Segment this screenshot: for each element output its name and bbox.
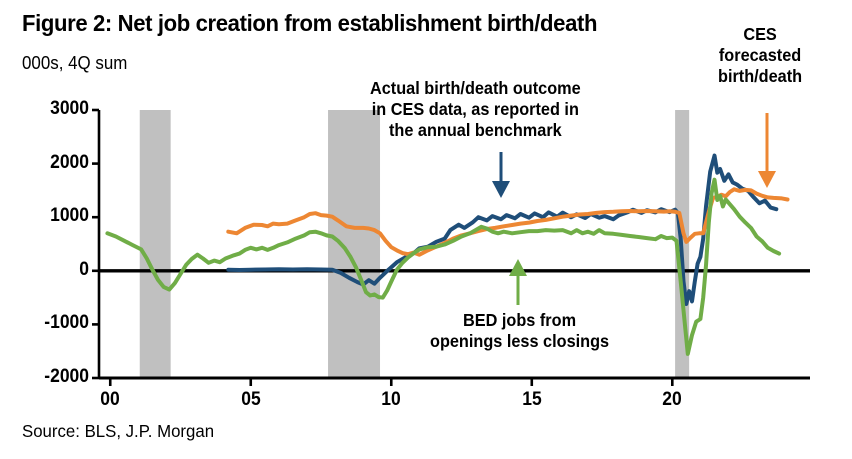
y-axis-label: 0: [17, 259, 89, 281]
annotation-ces-actual-line1: Actual birth/death outcome: [370, 78, 581, 99]
annotation-ces-forecast: CES forecasted birth/death: [718, 24, 802, 87]
figure-container: Figure 2: Net job creation from establis…: [0, 0, 852, 459]
y-axis-label: 2000: [17, 152, 89, 174]
recession-band: [328, 110, 380, 378]
annotation-ces-actual-line2: in CES data, as reported in: [370, 99, 581, 120]
annotation-ces-forecast-line2: forecasted: [718, 45, 802, 66]
annotation-bed-line2: openings less closings: [430, 331, 609, 352]
x-axis-label: 20: [654, 389, 691, 411]
annotation-ces-forecast-line3: birth/death: [718, 66, 802, 87]
annotation-ces-forecast-line1: CES: [718, 24, 802, 45]
x-axis-label: 15: [513, 389, 550, 411]
y-axis-label: -2000: [17, 366, 89, 388]
recession-band: [140, 110, 171, 378]
source-note: Source: BLS, J.P. Morgan: [22, 421, 214, 442]
annotation-bed: BED jobs from openings less closings: [430, 310, 609, 352]
annotation-ces-actual-line3: the annual benchmark: [370, 120, 581, 141]
x-axis-label: 00: [92, 389, 129, 411]
y-axis-label: 3000: [17, 98, 89, 120]
x-axis-label: 10: [373, 389, 410, 411]
y-axis-label: -1000: [17, 312, 89, 334]
arrow-ces-actual-head: [492, 181, 510, 198]
x-axis-label: 05: [232, 389, 269, 411]
y-axis-label: 1000: [17, 205, 89, 227]
arrow-ces-forecast-head: [758, 171, 776, 188]
annotation-bed-line1: BED jobs from: [430, 310, 609, 331]
arrow-bed-head: [509, 259, 527, 276]
annotation-ces-actual: Actual birth/death outcome in CES data, …: [370, 78, 581, 141]
